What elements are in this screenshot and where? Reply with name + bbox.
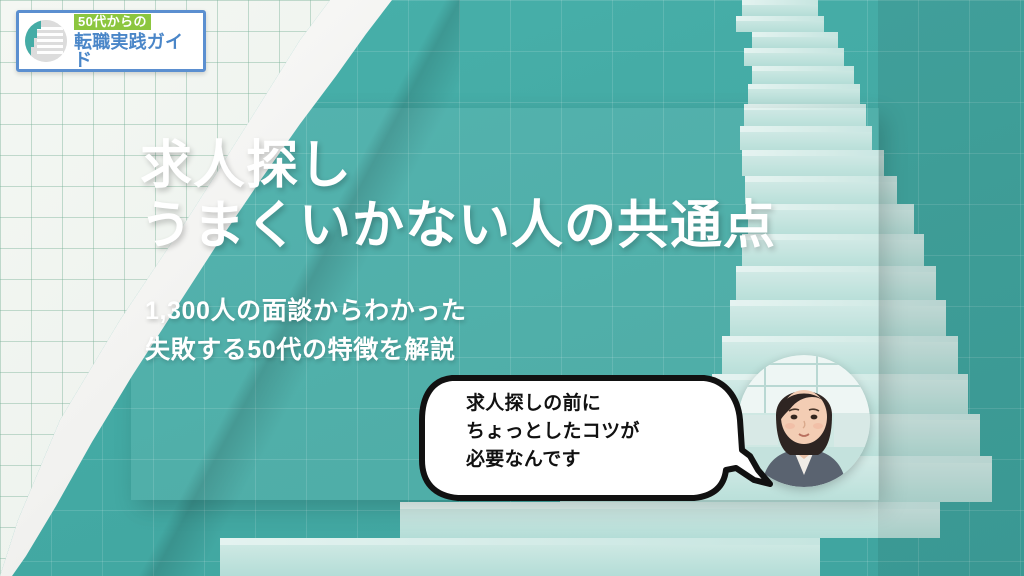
torn-paper-decoration	[0, 0, 460, 576]
bubble-line-2: ちょっとしたコツが	[466, 418, 716, 446]
subtitle-line-1: 1,300人の面談からわかった	[145, 292, 765, 331]
page-subtitle: 1,300人の面談からわかった 失敗する50代の特徴を解説	[145, 292, 765, 370]
speech-bubble-text: 求人探しの前に ちょっとしたコツが 必要なんです	[466, 390, 716, 474]
subtitle-line-2: 失敗する50代の特徴を解説	[145, 331, 765, 370]
bubble-line-3: 必要なんです	[466, 446, 716, 474]
stairs-mark-icon	[25, 20, 67, 62]
page-title: 求人探し うまくいかない人の共通点	[140, 136, 900, 257]
brand-badge[interactable]: 50代からの 転職実践ガイド	[16, 10, 206, 72]
title-line-2: うまくいかない人の共通点	[140, 196, 900, 256]
speech-bubble: 求人探しの前に ちょっとしたコツが 必要なんです	[418, 372, 778, 504]
badge-text-block: 50代からの 転職実践ガイド	[74, 14, 197, 69]
slide-canvas: 50代からの 転職実践ガイド 求人探し うまくいかない人の共通点 1,300人の…	[0, 0, 1024, 576]
badge-line1: 50代からの	[74, 14, 151, 30]
badge-line2: 転職実践ガイド	[74, 33, 197, 69]
title-line-1: 求人探し	[140, 136, 900, 196]
grid-paper	[0, 0, 460, 576]
bubble-line-1: 求人探しの前に	[466, 390, 716, 418]
